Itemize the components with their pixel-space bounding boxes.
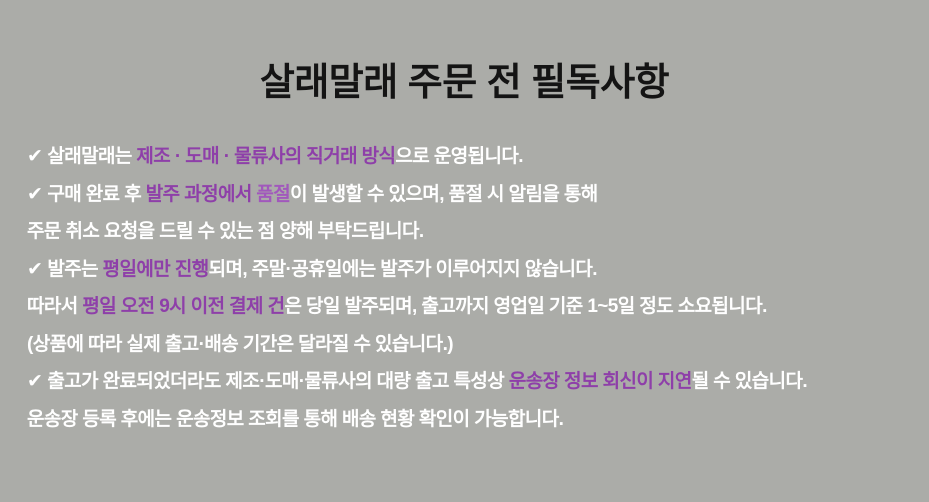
notice-text-segment: 평일에만 진행 [103, 259, 209, 280]
notice-line: ✔살래말래는 제조 · 도매 · 물류사의 직거래 방식으로 운영됩니다. [27, 138, 917, 176]
check-icon: ✔ [27, 251, 42, 289]
notice-line: ✔구매 완료 후 발주 과정에서 품절이 발생할 수 있으며, 품절 시 알림을… [27, 176, 917, 214]
notice-text-segment: 운송장 등록 후에는 운송정보 조회를 통해 배송 현황 확인이 가능합니다. [27, 409, 563, 430]
notice-text-segment: 으로 운영됩니다. [395, 146, 523, 167]
notice-text-segment: 살래말래는 [47, 146, 136, 167]
notice-body: ✔살래말래는 제조 · 도매 · 물류사의 직거래 방식으로 운영됩니다.✔구매… [27, 138, 917, 438]
notice-line: 따라서 평일 오전 9시 이전 결제 건은 당일 발주되며, 출고까지 영업일 … [27, 288, 917, 326]
notice-text-segment: 운송장 정보 회신이 지연 [509, 371, 692, 392]
notice-text-segment: 은 당일 발주되며, 출고까지 영업일 기준 1~5일 정도 소요됩니다. [285, 296, 767, 317]
notice-line: 주문 취소 요청을 드릴 수 있는 점 양해 부탁드립니다. [27, 213, 917, 251]
notice-text-segment: 이 발생할 수 있으며, 품절 시 알림을 통해 [290, 184, 598, 205]
notice-text-segment: 되며, 주말·공휴일에는 발주가 이루어지지 않습니다. [209, 259, 597, 280]
check-icon: ✔ [27, 138, 42, 176]
notice-line: (상품에 따라 실제 출고·배송 기간은 달라질 수 있습니다.) [27, 326, 917, 364]
check-icon: ✔ [27, 363, 42, 401]
notice-text-segment: 발주는 [47, 259, 102, 280]
notice-text-segment: 발주 과정에서 [146, 184, 257, 205]
page-title: 살래말래 주문 전 필독사항 [0, 58, 929, 108]
check-icon: ✔ [27, 176, 42, 214]
notice-text-segment: (상품에 따라 실제 출고·배송 기간은 달라질 수 있습니다.) [27, 334, 453, 355]
notice-text-segment: 될 수 있습니다. [692, 371, 807, 392]
notice-text-segment: 평일 오전 9시 이전 결제 건 [82, 296, 284, 317]
notice-line: ✔발주는 평일에만 진행되며, 주말·공휴일에는 발주가 이루어지지 않습니다. [27, 251, 917, 289]
notice-text-segment: 품절 [256, 184, 290, 205]
notice-line: 운송장 등록 후에는 운송정보 조회를 통해 배송 현황 확인이 가능합니다. [27, 401, 917, 439]
notice-text-segment: 따라서 [27, 296, 82, 317]
notice-canvas: 살래말래 주문 전 필독사항 ✔살래말래는 제조 · 도매 · 물류사의 직거래… [0, 0, 929, 502]
notice-text-segment: 주문 취소 요청을 드릴 수 있는 점 양해 부탁드립니다. [27, 221, 424, 242]
notice-text-segment: 제조 · 도매 · 물류사의 직거래 방식 [136, 146, 395, 167]
notice-line: ✔출고가 완료되었더라도 제조·도매·물류사의 대량 출고 특성상 운송장 정보… [27, 363, 917, 401]
notice-text-segment: 출고가 완료되었더라도 제조·도매·물류사의 대량 출고 특성상 [47, 371, 509, 392]
notice-text-segment: 구매 완료 후 [47, 184, 145, 205]
